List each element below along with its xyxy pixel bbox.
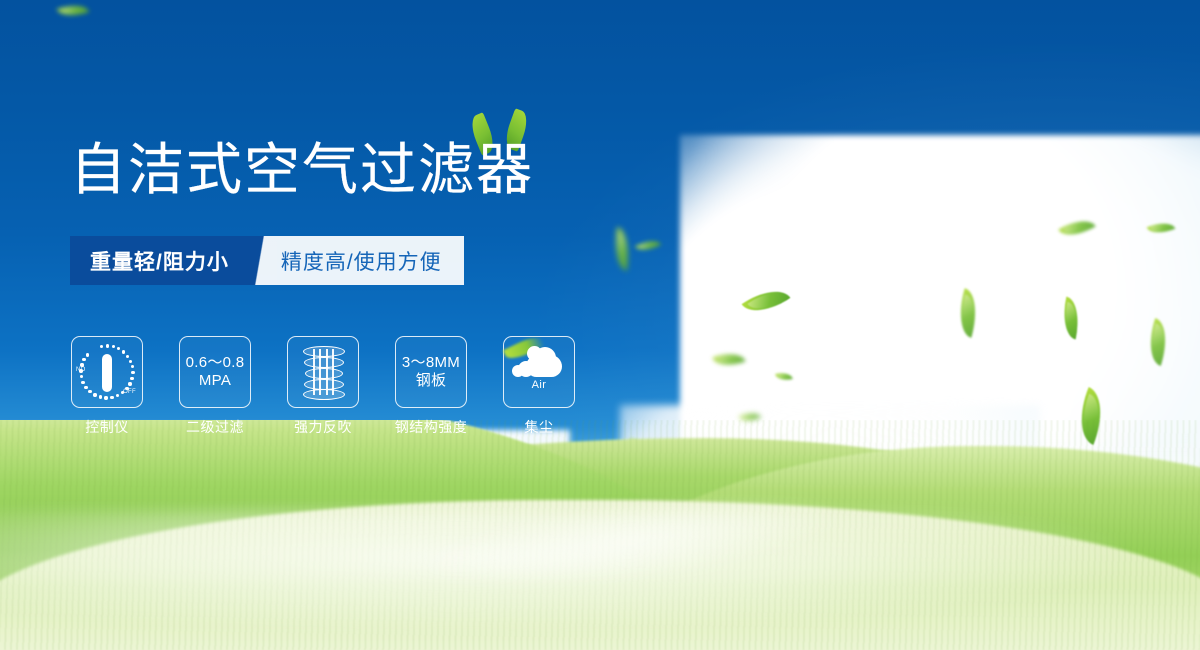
dial-tick	[126, 355, 129, 358]
dial-tick	[112, 345, 115, 348]
tag-precision-convenience: 精度高/使用方便	[277, 236, 464, 285]
page-title: 自洁式空气过滤器	[70, 142, 534, 198]
cartridge-pleat	[332, 349, 334, 395]
dial-tick	[80, 375, 83, 378]
dial-tick	[106, 344, 109, 347]
leaf-float-1	[57, 0, 90, 21]
cartridge-ring	[303, 389, 345, 400]
cartridge-pleat	[326, 349, 328, 395]
air-label: Air	[510, 379, 568, 391]
feature-item-two-stage-filter[interactable]: 0.6～0.8 MPA 二级过滤	[178, 336, 252, 437]
dial-on-label: NO	[76, 367, 86, 373]
feature-icon-box: NO OFF	[71, 336, 143, 408]
tag-separator	[247, 236, 277, 285]
dial-tick	[131, 365, 134, 368]
leaf-float-2	[611, 227, 633, 271]
dial-switch-bar	[102, 354, 112, 392]
dial-off-label: OFF	[123, 389, 136, 395]
dial-tick	[129, 360, 132, 363]
dial-tick	[81, 381, 84, 384]
dial-tick	[131, 371, 134, 374]
feature-label: 强力反吹	[294, 417, 352, 437]
feature-icon-box	[287, 336, 359, 408]
dial-tick	[84, 386, 87, 389]
dial-tick	[116, 394, 119, 397]
feature-item-dust-collection[interactable]: Air 集尘	[502, 336, 576, 437]
dial-tick	[88, 390, 91, 393]
dial-tick	[104, 396, 107, 399]
feature-icon-box: 0.6～0.8 MPA	[179, 336, 251, 408]
dial-tick	[117, 347, 120, 350]
dial-tick	[99, 395, 102, 398]
feature-icon-box: Air	[503, 336, 575, 408]
steel-plate-text-icon: 3～8MM 钢板	[402, 354, 460, 389]
feature-label: 控制仪	[85, 417, 129, 437]
grass-field	[0, 420, 1200, 650]
feature-label: 二级过滤	[186, 417, 244, 437]
feature-item-steel-strength[interactable]: 3～8MM 钢板 钢结构强度	[394, 336, 468, 437]
filter-cartridge-icon	[301, 346, 345, 398]
air-cloud-icon: Air	[510, 345, 568, 399]
cartridge-pleat	[319, 349, 321, 395]
leaf-float-13	[635, 235, 661, 256]
dial-tick	[128, 382, 131, 385]
feature-item-backflush[interactable]: 强力反吹	[286, 336, 360, 437]
dial-tick	[93, 393, 96, 396]
tag-weight-resistance: 重量轻/阻力小	[70, 236, 247, 285]
dial-tick	[122, 350, 125, 353]
cloud-body	[526, 355, 562, 377]
dial-tick	[86, 353, 89, 356]
feature-tag-bar: 重量轻/阻力小 精度高/使用方便	[70, 236, 464, 285]
feature-list: NO OFF 控制仪 0.6～0.8 MPA 二级过滤	[70, 336, 576, 437]
dial-tick	[100, 345, 103, 348]
feature-label: 集尘	[525, 417, 554, 437]
cartridge-pleat	[313, 349, 315, 395]
control-dial-icon: NO OFF	[76, 341, 138, 403]
dial-tick	[82, 358, 85, 361]
dial-tick	[130, 377, 133, 380]
feature-icon-box: 3～8MM 钢板	[395, 336, 467, 408]
pressure-text-icon: 0.6～0.8 MPA	[186, 354, 245, 389]
feature-label: 钢结构强度	[395, 417, 468, 437]
cartridge-ring	[304, 357, 344, 368]
cartridge-ring	[303, 346, 345, 357]
feature-item-controller[interactable]: NO OFF 控制仪	[70, 336, 144, 437]
cartridge-ring	[305, 368, 343, 379]
product-banner: 自洁式空气过滤器 重量轻/阻力小 精度高/使用方便 NO OFF 控制仪 0.6…	[0, 0, 1200, 650]
dial-tick	[110, 396, 113, 399]
